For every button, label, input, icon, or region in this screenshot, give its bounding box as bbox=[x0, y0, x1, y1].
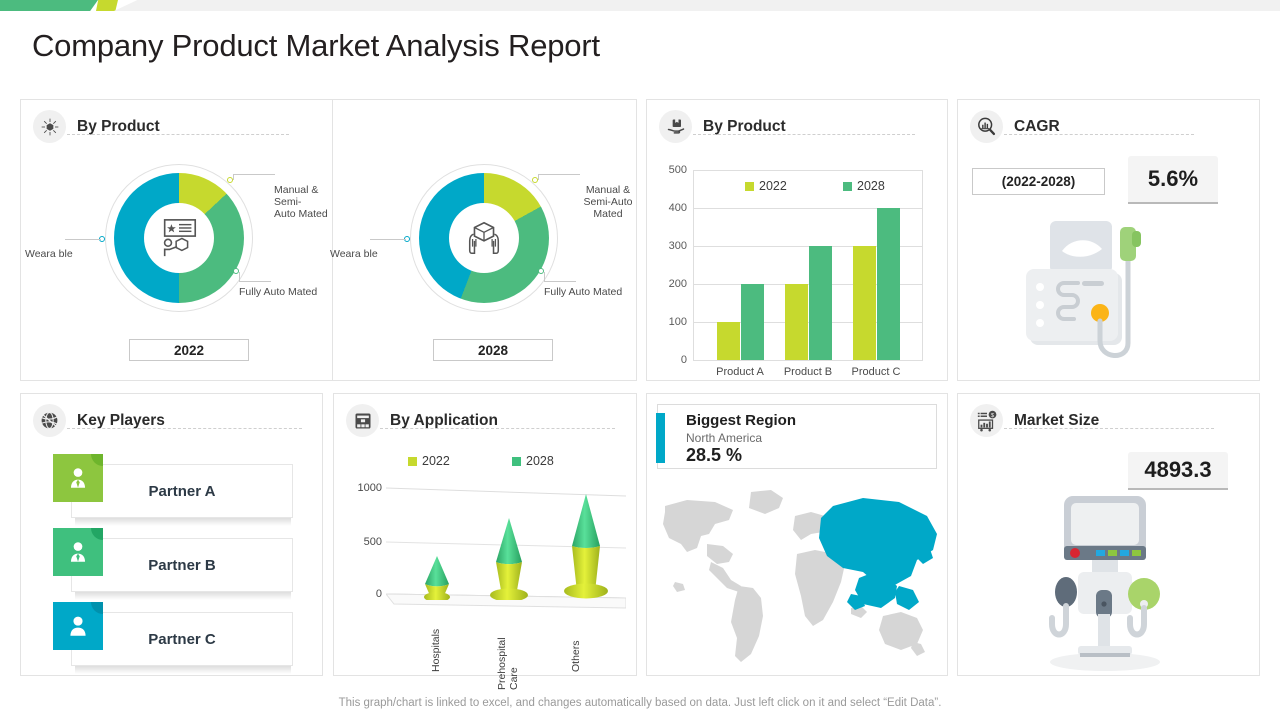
region-name: North America bbox=[686, 431, 762, 445]
legend-swatch-2022 bbox=[745, 182, 754, 191]
bar-2022-product-a[interactable] bbox=[717, 322, 740, 360]
donut-2028-label-fully: Fully Auto Mated bbox=[544, 286, 654, 298]
x-label-product-c: Product C bbox=[852, 366, 901, 378]
world-map-icon bbox=[655, 482, 941, 668]
accent-segment-green bbox=[0, 0, 98, 11]
bar-2028-product-c[interactable] bbox=[877, 208, 900, 360]
key-player-row-b[interactable]: Partner B bbox=[35, 528, 305, 602]
panel-biggest-region: Biggest Region North America 28.5 % bbox=[646, 393, 948, 676]
x-label-product-a: Product A bbox=[716, 366, 764, 378]
donut-leader-fully bbox=[544, 281, 576, 282]
key-player-card-c[interactable]: Partner C bbox=[71, 612, 293, 666]
cagr-period-box[interactable]: (2022-2028) bbox=[972, 168, 1105, 195]
donut-leader-fully-v bbox=[239, 272, 240, 282]
gridline bbox=[693, 170, 923, 171]
header-divider bbox=[380, 428, 615, 429]
y-tick-0: 0 bbox=[681, 354, 687, 366]
person-tie-icon bbox=[65, 465, 91, 491]
axis-line-y bbox=[693, 170, 694, 360]
donut-center bbox=[144, 203, 214, 273]
key-player-row-c[interactable]: Partner C bbox=[35, 602, 305, 676]
donut-2028-year-box[interactable]: 2028 bbox=[433, 339, 553, 361]
panel-header: CAGR bbox=[970, 110, 1060, 143]
y-tick-1000: 1000 bbox=[352, 482, 382, 494]
top-accent-bar bbox=[0, 0, 1280, 11]
y-tick-0: 0 bbox=[352, 588, 382, 600]
donut-leader-fully bbox=[239, 281, 271, 282]
y-tick-200: 200 bbox=[669, 278, 687, 290]
person-icon bbox=[65, 613, 91, 639]
card-shadow bbox=[75, 518, 291, 526]
market-size-value-badge: 4893.3 bbox=[1128, 452, 1228, 490]
cone-chart-plot: 1000 500 0 bbox=[386, 486, 626, 596]
key-player-badge-b bbox=[53, 528, 103, 576]
bar-chart-plot: 500 400 300 200 100 0 Product A Product … bbox=[693, 170, 923, 360]
legend-swatch-2022 bbox=[408, 457, 417, 466]
header-divider bbox=[1004, 134, 1194, 135]
hand-package-icon bbox=[659, 110, 692, 143]
header-divider bbox=[67, 428, 302, 429]
cagr-value-badge: 5.6% bbox=[1128, 156, 1218, 204]
gridline bbox=[693, 360, 923, 361]
panel-by-application: By Application 2022 2028 1000 500 0 bbox=[333, 393, 637, 676]
donut-2028-label-manual: Manual & Semi-Auto Mated bbox=[569, 184, 647, 220]
y-tick-500: 500 bbox=[352, 536, 382, 548]
bar-2022-product-b[interactable] bbox=[785, 284, 808, 360]
presentation-product-icon bbox=[156, 217, 202, 259]
card-shadow bbox=[75, 592, 291, 600]
header-divider bbox=[693, 134, 915, 135]
x-label-prehospital-care: Prehospital Care bbox=[496, 612, 522, 690]
panel-column-divider bbox=[332, 100, 333, 380]
donut-chart-2022 bbox=[105, 164, 253, 312]
chart-dollar-icon: $ bbox=[970, 404, 1003, 437]
donut-2022-label-manual: Manual & Semi- Auto Mated bbox=[274, 184, 348, 220]
x-label-product-b: Product B bbox=[784, 366, 832, 378]
bar-2028-product-b[interactable] bbox=[809, 246, 832, 360]
x-label-hospitals: Hospitals bbox=[430, 612, 442, 672]
panel-by-product-bar: By Product 500 400 300 200 100 0 Product… bbox=[646, 99, 948, 381]
key-player-badge-c bbox=[53, 602, 103, 650]
legend-item-2028[interactable]: 2028 bbox=[843, 179, 885, 193]
cone-others bbox=[548, 490, 624, 602]
key-player-card-a[interactable]: Partner A bbox=[71, 464, 293, 518]
panel-key-players: Key Players Partner A Partner B bbox=[20, 393, 323, 676]
y-tick-100: 100 bbox=[669, 316, 687, 328]
donut-leader-manual bbox=[233, 174, 275, 175]
x-label-others: Others bbox=[570, 612, 582, 672]
donut-2028-label-wearable: Weara ble bbox=[330, 248, 386, 260]
donut-2022-label-fully: Fully Auto Mated bbox=[239, 286, 349, 298]
org-chart-icon bbox=[346, 404, 379, 437]
product-node-icon bbox=[33, 110, 66, 143]
y-tick-500: 500 bbox=[669, 164, 687, 176]
region-info-card: Biggest Region North America 28.5 % bbox=[657, 404, 937, 469]
legend-item-2022[interactable]: 2022 bbox=[745, 179, 787, 193]
bar-2028-product-a[interactable] bbox=[741, 284, 764, 360]
header-divider bbox=[67, 134, 289, 135]
panel-header: $ Market Size bbox=[970, 404, 1099, 437]
donut-leader-fully-v bbox=[544, 272, 545, 282]
panel-title: CAGR bbox=[1014, 118, 1060, 136]
cone-prehospital-care bbox=[476, 510, 542, 600]
legend-label-2022: 2022 bbox=[422, 454, 450, 468]
panel-header: By Product bbox=[33, 110, 160, 143]
legend-item-2022[interactable]: 2022 bbox=[408, 454, 450, 468]
magnifier-chart-icon bbox=[970, 110, 1003, 143]
key-player-row-a[interactable]: Partner A bbox=[35, 454, 305, 528]
header-divider bbox=[1004, 428, 1214, 429]
y-tick-300: 300 bbox=[669, 240, 687, 252]
donut-leader-manual-v bbox=[538, 174, 539, 180]
panel-by-product-donut: By Product M bbox=[20, 99, 637, 381]
panel-title: By Product bbox=[703, 118, 786, 136]
region-title: Biggest Region bbox=[686, 412, 796, 429]
donut-leader-manual bbox=[538, 174, 580, 175]
region-value: 28.5 % bbox=[686, 445, 742, 466]
badge-fold bbox=[91, 454, 103, 466]
accent-segment-grey bbox=[114, 0, 1280, 11]
axis-line-right bbox=[922, 170, 923, 360]
panel-header: By Application bbox=[346, 404, 498, 437]
donut-leader-wearable bbox=[370, 239, 406, 240]
cone-hospitals bbox=[408, 532, 466, 600]
panel-title: Market Size bbox=[1014, 412, 1099, 430]
badge-fold bbox=[91, 602, 103, 614]
legend-label-2028: 2028 bbox=[857, 179, 885, 193]
legend-swatch-2028 bbox=[512, 457, 521, 466]
badge-fold bbox=[91, 528, 103, 540]
donut-2022-label-wearable: Weara ble bbox=[25, 248, 81, 260]
footer-note: This graph/chart is linked to excel, and… bbox=[0, 697, 1280, 709]
person-tie-icon bbox=[65, 539, 91, 565]
panel-market-size: $ Market Size 4893.3 bbox=[957, 393, 1260, 676]
svg-text:$: $ bbox=[990, 412, 993, 418]
card-shadow bbox=[75, 666, 291, 674]
globe-icon bbox=[33, 404, 66, 437]
panel-header: By Product bbox=[659, 110, 786, 143]
page-title: Company Product Market Analysis Report bbox=[32, 28, 600, 64]
legend-label-2022: 2022 bbox=[759, 179, 787, 193]
bar-2022-product-c[interactable] bbox=[853, 246, 876, 360]
donut-leader-wearable bbox=[65, 239, 101, 240]
medical-device-icon bbox=[1020, 215, 1200, 375]
legend-swatch-2028 bbox=[843, 182, 852, 191]
y-tick-400: 400 bbox=[669, 202, 687, 214]
panel-title: Key Players bbox=[77, 412, 165, 430]
panel-header: Key Players bbox=[33, 404, 165, 437]
donut-2022-year-box[interactable]: 2022 bbox=[129, 339, 249, 361]
region-accent-bar bbox=[656, 413, 665, 463]
donut-center bbox=[449, 203, 519, 273]
panel-title: By Application bbox=[390, 412, 498, 430]
panel-title: By Product bbox=[77, 118, 160, 136]
legend-label-2028: 2028 bbox=[526, 454, 554, 468]
hands-box-icon bbox=[461, 218, 507, 258]
patient-monitor-icon bbox=[1040, 494, 1170, 674]
legend-item-2028[interactable]: 2028 bbox=[512, 454, 554, 468]
donut-leader-manual-v bbox=[233, 174, 234, 180]
key-player-card-b[interactable]: Partner B bbox=[71, 538, 293, 592]
accent-segment-lime bbox=[96, 0, 118, 11]
key-player-badge-a bbox=[53, 454, 103, 502]
donut-chart-2028 bbox=[410, 164, 558, 312]
panel-cagr: CAGR (2022-2028) 5.6% bbox=[957, 99, 1260, 381]
